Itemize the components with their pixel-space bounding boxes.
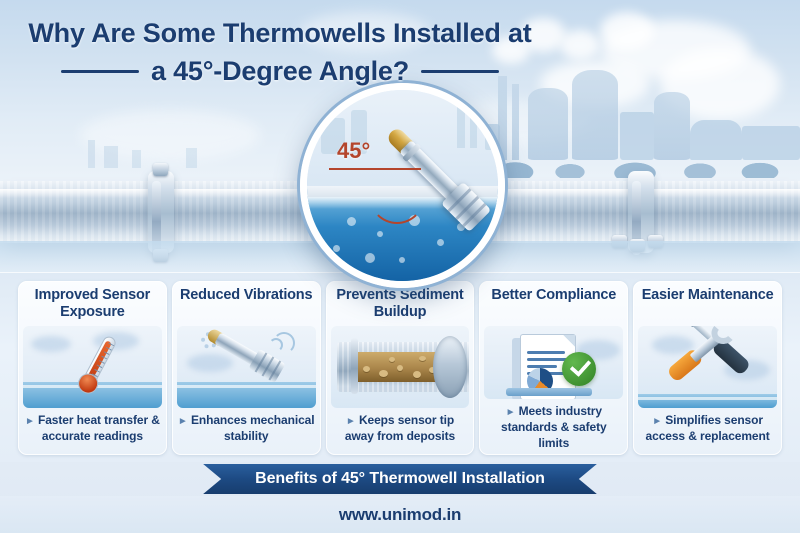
card-title: Improved Sensor Exposure (23, 287, 162, 323)
document-checkmark-icon (484, 326, 623, 399)
card-caption: ► Meets industry standards & safety limi… (484, 404, 623, 451)
bullet-icon: ► (178, 416, 188, 427)
ribbon-banner: Benefits of 45° Thermowell Installation (203, 464, 597, 494)
benefit-card-improved-sensor-exposure[interactable]: Improved Sensor Exposure ► Faster heat t… (18, 281, 167, 455)
thermometer-icon (23, 326, 162, 408)
wrench-screwdriver-icon (638, 326, 777, 408)
card-caption-text: Faster heat transfer & accurate readings (38, 413, 160, 443)
ribbon-banner-wrap: Benefits of 45° Thermowell Installation (0, 462, 800, 496)
card-caption-text: Keeps sensor tip away from deposits (345, 413, 455, 443)
bullet-icon: ► (506, 407, 516, 418)
bullet-icon: ► (652, 416, 662, 427)
page-title: Why Are Some Thermowells Installed at a … (0, 18, 560, 87)
card-title: Prevents Sediment Buildup (331, 287, 470, 323)
bullet-icon: ► (346, 416, 356, 427)
footer-bar: www.unimod.in (0, 496, 800, 533)
card-caption-text: Enhances mechanical stability (191, 413, 315, 443)
title-line-2-row: a 45°-Degree Angle? (0, 56, 560, 87)
benefit-card-easier-maintenance[interactable]: Easier Maintenance ► Simplifies se (633, 281, 782, 455)
title-line-2: a 45°-Degree Angle? (151, 56, 409, 87)
card-title: Easier Maintenance (642, 287, 774, 323)
magnifier-lens: 45° (300, 83, 505, 288)
sediment-pipe-icon (331, 326, 470, 408)
card-caption-text: Meets industry standards & safety limits (501, 404, 607, 449)
card-title: Better Compliance (491, 287, 616, 323)
card-caption: ► Keeps sensor tip away from deposits (331, 413, 470, 444)
title-rule-right (421, 70, 499, 73)
bullet-icon: ► (25, 416, 35, 427)
infographic-canvas: Why Are Some Thermowells Installed at a … (0, 0, 800, 533)
benefit-card-reduced-vibrations[interactable]: Reduced Vibrations ► Enhances mechanical… (172, 281, 321, 455)
benefit-card-better-compliance[interactable]: Better Compliance ► Meets industry stand… (479, 281, 628, 455)
card-caption-text: Simplifies sensor access & replacement (646, 413, 770, 443)
bolt-icon (153, 163, 168, 176)
angle-arc (369, 168, 425, 224)
title-line-1: Why Are Some Thermowells Installed at (0, 18, 560, 50)
card-caption: ► Simplifies sensor access & replacement (638, 413, 777, 444)
benefit-card-prevents-sediment-buildup[interactable]: Prevents Sediment Buildup ► Keeps sensor (326, 281, 475, 455)
card-caption: ► Enhances mechanical stability (177, 413, 316, 444)
website-url[interactable]: www.unimod.in (339, 505, 461, 525)
angle-label: 45° (337, 138, 370, 164)
vibrating-probe-icon (177, 326, 316, 408)
card-title: Reduced Vibrations (180, 287, 312, 323)
benefit-cards-band: Improved Sensor Exposure ► Faster heat t… (0, 272, 800, 462)
card-caption: ► Faster heat transfer & accurate readin… (23, 413, 162, 444)
title-rule-left (61, 70, 139, 73)
